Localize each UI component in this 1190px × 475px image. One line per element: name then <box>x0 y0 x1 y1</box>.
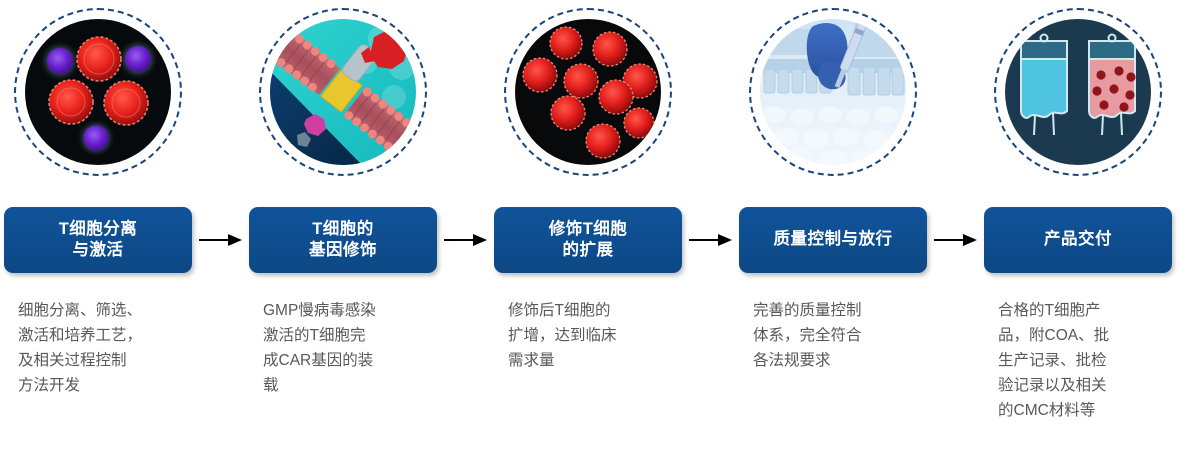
process-flow-diagram: T细胞分离 与激活 细胞分离、筛选、 激活和培养工艺， 及相关过程控制 方法开发 <box>0 0 1190 475</box>
step-5-illustration <box>994 8 1162 176</box>
dashed-ring-3 <box>504 8 672 176</box>
step-4-illustration <box>749 8 917 176</box>
step-5-label-box[interactable]: 产品交付 <box>984 207 1172 273</box>
dashed-ring-1 <box>14 8 182 176</box>
process-step-2: T细胞的 基因修饰 GMP慢病毒感染 激活的T细胞完 成CAR基因的装 载 <box>249 0 437 475</box>
step-2-caption: GMP慢病毒感染 激活的T细胞完 成CAR基因的装 载 <box>263 298 435 398</box>
step-1-label: T细胞分离 与激活 <box>59 219 138 262</box>
step-4-label: 质量控制与放行 <box>774 229 893 250</box>
dashed-ring-5 <box>994 8 1162 176</box>
step-5-label: 产品交付 <box>1044 229 1112 250</box>
arrow-right-icon-2 <box>442 232 490 248</box>
step-1-illustration <box>14 8 182 176</box>
step-2-illustration <box>259 8 427 176</box>
step-3-label-box[interactable]: 修饰T细胞 的扩展 <box>494 207 682 273</box>
process-step-3: 修饰T细胞 的扩展 修饰后T细胞的 扩增，达到临床 需求量 <box>494 0 682 475</box>
step-5-caption: 合格的T细胞产 品，附COA、批 生产记录、批检 验记录以及相关 的CMC材料等 <box>998 298 1170 424</box>
step-3-illustration <box>504 8 672 176</box>
arrow-right-icon-4 <box>932 232 980 248</box>
step-1-label-box[interactable]: T细胞分离 与激活 <box>4 207 192 273</box>
step-1-caption: 细胞分离、筛选、 激活和培养工艺， 及相关过程控制 方法开发 <box>18 298 190 398</box>
step-4-label-box[interactable]: 质量控制与放行 <box>739 207 927 273</box>
step-3-label: 修饰T细胞 的扩展 <box>549 219 628 262</box>
dashed-ring-2 <box>259 8 427 176</box>
arrow-right-icon-3 <box>687 232 735 248</box>
process-step-4: 质量控制与放行 完善的质量控制 体系，完全符合 各法规要求 <box>739 0 927 475</box>
step-3-caption: 修饰后T细胞的 扩增，达到临床 需求量 <box>508 298 680 373</box>
process-step-1: T细胞分离 与激活 细胞分离、筛选、 激活和培养工艺， 及相关过程控制 方法开发 <box>4 0 192 475</box>
dashed-ring-4 <box>749 8 917 176</box>
step-4-caption: 完善的质量控制 体系，完全符合 各法规要求 <box>753 298 925 373</box>
arrow-right-icon-1 <box>197 232 245 248</box>
step-2-label: T细胞的 基因修饰 <box>309 219 377 262</box>
process-step-5: 产品交付 合格的T细胞产 品，附COA、批 生产记录、批检 验记录以及相关 的C… <box>984 0 1172 475</box>
step-2-label-box[interactable]: T细胞的 基因修饰 <box>249 207 437 273</box>
